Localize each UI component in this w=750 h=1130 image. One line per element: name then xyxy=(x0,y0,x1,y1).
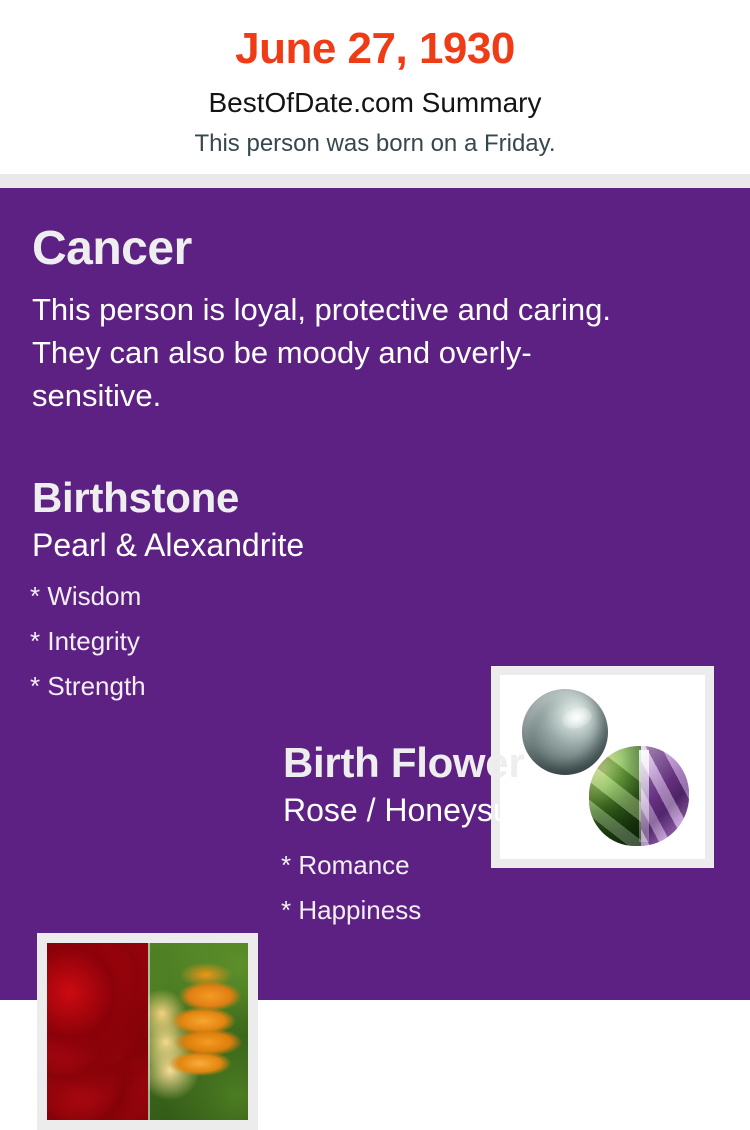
page-title-date: June 27, 1930 xyxy=(0,22,750,76)
summary-panel: Cancer This person is loyal, protective … xyxy=(0,188,750,1000)
birth-weekday-text: This person was born on a Friday. xyxy=(0,129,750,159)
alexandrite-gem-icon xyxy=(589,746,689,846)
header-divider xyxy=(0,174,750,188)
list-item: * Strength xyxy=(30,664,450,709)
birthstone-image xyxy=(500,675,705,859)
list-item: * Integrity xyxy=(30,619,450,664)
honeysuckle-photo-half xyxy=(148,943,249,1120)
birthstone-trait-list: * Wisdom * Integrity * Strength xyxy=(30,574,450,709)
zodiac-sign-title: Cancer xyxy=(32,221,192,277)
photo-split-divider xyxy=(148,943,150,1120)
birth-flower-image-frame xyxy=(37,933,258,1130)
zodiac-description: This person is loyal, protective and car… xyxy=(32,288,652,417)
gem-highlight xyxy=(639,750,649,842)
birthstone-title: Birthstone xyxy=(32,473,239,523)
red-roses-photo-half xyxy=(47,943,148,1120)
birth-flower-trait-list: * Romance * Happiness xyxy=(281,843,681,933)
alexandrite-green-half xyxy=(589,746,641,846)
birthstone-image-frame xyxy=(491,666,714,868)
list-item: * Romance xyxy=(281,843,681,888)
birth-flower-title: Birth Flower xyxy=(283,738,524,788)
birth-flower-name: Rose / Honeysuckle xyxy=(283,790,568,830)
site-name: BestOfDate.com Summary xyxy=(0,86,750,120)
list-item: * Happiness xyxy=(281,888,681,933)
header: June 27, 1930 BestOfDate.com Summary Thi… xyxy=(0,0,750,174)
birth-flower-image xyxy=(47,943,248,1120)
list-item: * Wisdom xyxy=(30,574,450,619)
birthday-summary-card: June 27, 1930 BestOfDate.com Summary Thi… xyxy=(0,0,750,1000)
birthstone-name: Pearl & Alexandrite xyxy=(32,525,304,565)
